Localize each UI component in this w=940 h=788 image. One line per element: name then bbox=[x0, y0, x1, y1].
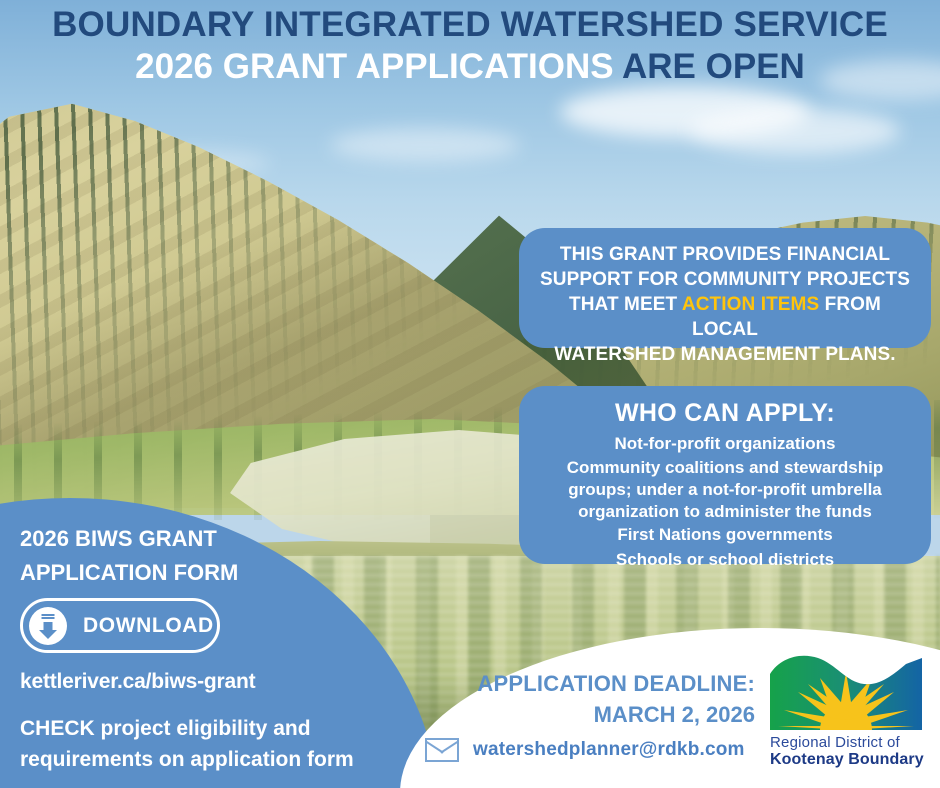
grant-line-3-pre: THAT MEET bbox=[569, 294, 682, 315]
page-title: BOUNDARY INTEGRATED WATERSHED SERVICE 20… bbox=[0, 0, 940, 88]
eligible-entity: organization to administer the funds bbox=[533, 502, 917, 521]
grant-line-2: SUPPORT FOR COMMUNITY PROJECTS bbox=[535, 267, 915, 292]
eligible-entity: Schools or school districts bbox=[533, 549, 917, 571]
cloud bbox=[330, 128, 520, 162]
cloud bbox=[690, 108, 900, 154]
action-items-highlight: ACTION ITEMS bbox=[682, 294, 819, 315]
download-panel: 2026 BIWS GRANT APPLICATION FORM DOWNLOA… bbox=[0, 498, 430, 788]
download-panel-title: 2026 BIWS GRANT APPLICATION FORM bbox=[20, 522, 238, 590]
who-can-apply-heading: WHO CAN APPLY: bbox=[533, 396, 917, 430]
download-icon-bars bbox=[42, 614, 55, 620]
grant-line-4: WATERSHED MANAGEMENT PLANS. bbox=[535, 342, 915, 367]
grant-line-1: THIS GRANT PROVIDES FINANCIAL bbox=[535, 242, 915, 267]
poster: BOUNDARY INTEGRATED WATERSHED SERVICE 20… bbox=[0, 0, 940, 788]
eligible-entity: Not-for-profit organizations bbox=[533, 433, 917, 455]
title-line-2: 2026 GRANT APPLICATIONS ARE OPEN bbox=[0, 46, 940, 88]
eligibility-note-line-1: CHECK project eligibility and bbox=[20, 713, 354, 744]
title-line-2-dark: ARE OPEN bbox=[614, 47, 805, 86]
download-title-line-2: APPLICATION FORM bbox=[20, 556, 238, 590]
deadline-label: APPLICATION DEADLINE: bbox=[455, 668, 755, 699]
who-can-apply-card: WHO CAN APPLY: Not-for-profit organizati… bbox=[519, 386, 931, 564]
rdkb-logo-svg bbox=[770, 652, 922, 730]
logo-line-1: Regional District of bbox=[770, 734, 930, 751]
download-icon-head bbox=[39, 630, 57, 639]
contact-email[interactable]: watershedplanner@rdkb.com bbox=[473, 739, 745, 761]
eligibility-note: CHECK project eligibility and requiremen… bbox=[20, 713, 354, 775]
deadline-block: APPLICATION DEADLINE: MARCH 2, 2026 bbox=[455, 668, 755, 730]
deadline-date: MARCH 2, 2026 bbox=[455, 699, 755, 730]
grant-line-3: THAT MEET ACTION ITEMS FROM LOCAL bbox=[535, 292, 915, 342]
contact-email-row[interactable]: watershedplanner@rdkb.com bbox=[425, 738, 745, 762]
eligible-entity: Community coalitions and stewardship bbox=[533, 458, 917, 477]
eligible-entity: groups; under a not-for-profit umbrella bbox=[533, 480, 917, 499]
download-title-line-1: 2026 BIWS GRANT bbox=[20, 522, 238, 556]
eligibility-note-line-2: requirements on application form bbox=[20, 744, 354, 775]
download-button-label: DOWNLOAD bbox=[83, 614, 214, 638]
application-url[interactable]: kettleriver.ca/biws-grant bbox=[20, 670, 255, 694]
download-arrow-icon bbox=[29, 607, 67, 645]
rdkb-logo: Regional District of Kootenay Boundary bbox=[770, 652, 930, 780]
title-line-2-white: 2026 GRANT APPLICATIONS bbox=[135, 47, 613, 86]
envelope-icon bbox=[425, 738, 459, 762]
download-button[interactable]: DOWNLOAD bbox=[20, 598, 220, 653]
logo-line-2: Kootenay Boundary bbox=[770, 751, 930, 769]
eligible-entity: First Nations governments bbox=[533, 524, 917, 546]
grant-description-card: THIS GRANT PROVIDES FINANCIAL SUPPORT FO… bbox=[519, 228, 931, 348]
rdkb-sunrise-logo-mark bbox=[770, 652, 922, 730]
title-line-1: BOUNDARY INTEGRATED WATERSHED SERVICE bbox=[0, 4, 940, 46]
